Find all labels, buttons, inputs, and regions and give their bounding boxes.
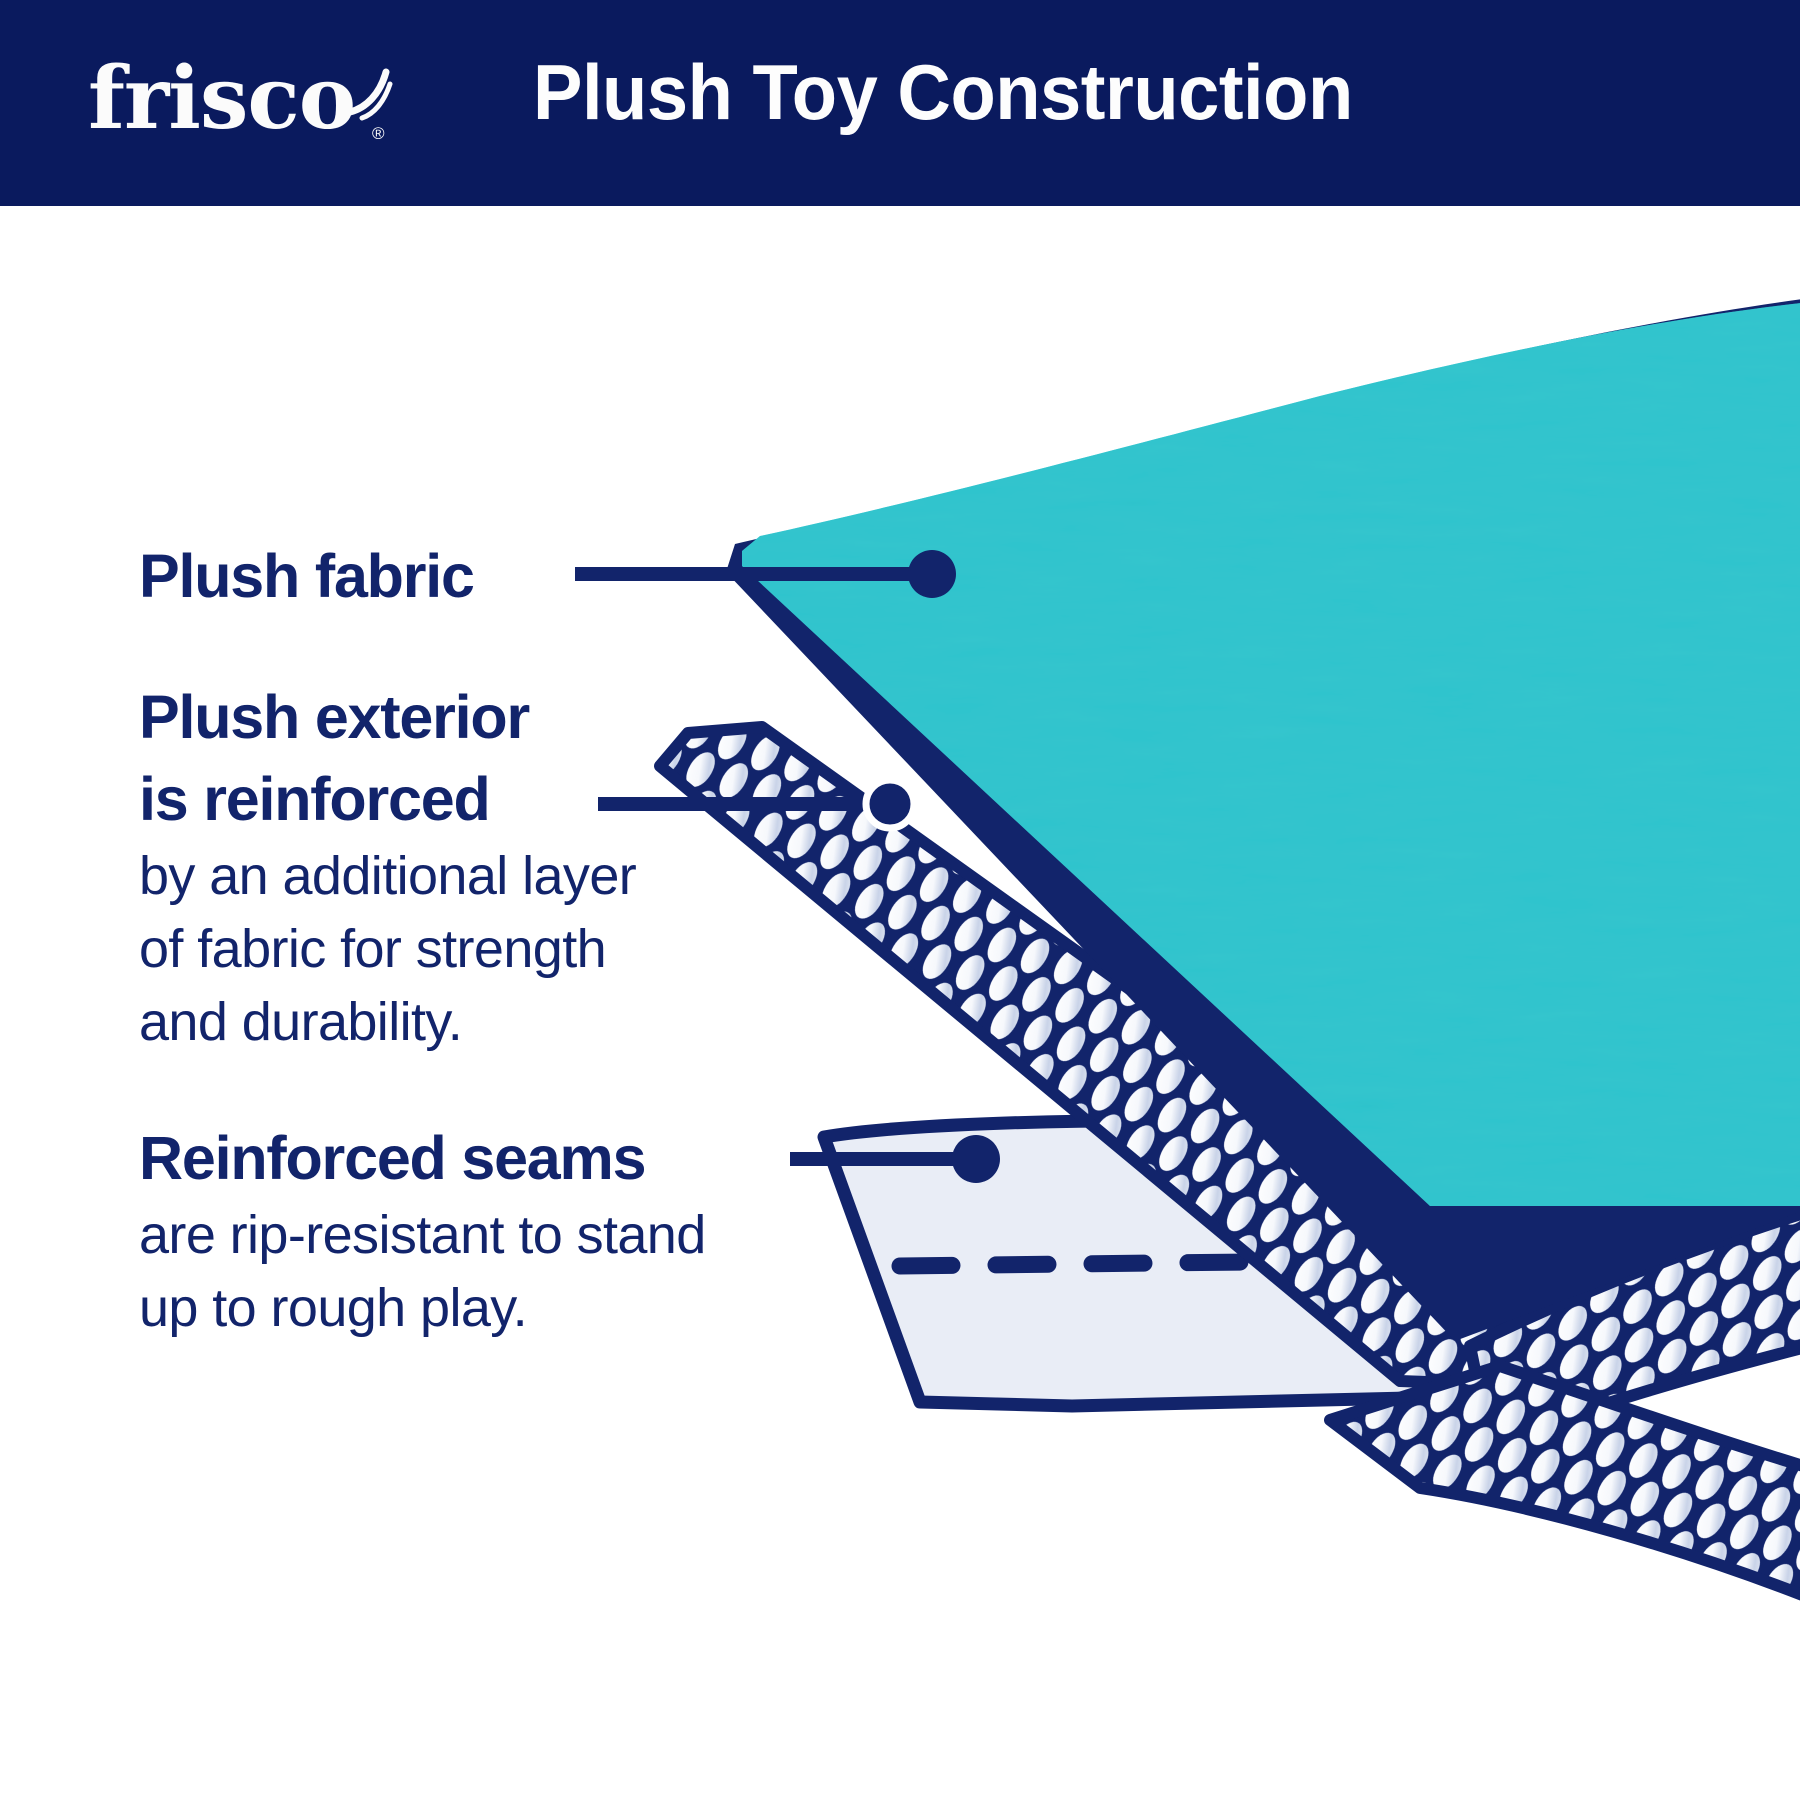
header-bar: frisco ® Plush Toy Construction bbox=[0, 0, 1800, 206]
callout-reinforced-seams-body-line-1: are rip-resistant to stand bbox=[139, 1199, 899, 1272]
registered-trademark-icon: ® bbox=[372, 124, 385, 144]
callout-reinforced-seams-body-line-2: up to rough play. bbox=[139, 1272, 899, 1345]
callout-plush-exterior-body-line-3: and durability. bbox=[139, 986, 869, 1059]
callout-plush-exterior-heading-line-2: is reinforced bbox=[139, 758, 869, 840]
callout-reinforced-seams: Reinforced seams are rip-resistant to st… bbox=[139, 1117, 899, 1345]
page-title: Plush Toy Construction bbox=[533, 47, 1353, 138]
callout-plush-fabric: Plush fabric bbox=[139, 535, 839, 617]
callout-plush-fabric-heading-line-1: Plush fabric bbox=[139, 535, 839, 617]
callout-plush-exterior-body-line-1: by an additional layer bbox=[139, 840, 869, 913]
callout-plush-exterior-body-line-2: of fabric for strength bbox=[139, 913, 869, 986]
leader-dot-plush-exterior bbox=[866, 780, 914, 828]
callout-plush-exterior-heading-line-1: Plush exterior bbox=[139, 676, 869, 758]
brand-wordmark: frisco bbox=[88, 44, 355, 154]
callout-plush-exterior: Plush exterior is reinforced by an addit… bbox=[139, 676, 869, 1059]
leader-dot-plush-fabric bbox=[908, 550, 956, 598]
leader-dot-reinforced-seams bbox=[952, 1135, 1000, 1183]
frisco-logo: frisco ® bbox=[88, 44, 418, 154]
infographic-page: frisco ® Plush Toy Construction bbox=[0, 0, 1800, 1800]
callout-reinforced-seams-heading-line-1: Reinforced seams bbox=[139, 1117, 899, 1199]
